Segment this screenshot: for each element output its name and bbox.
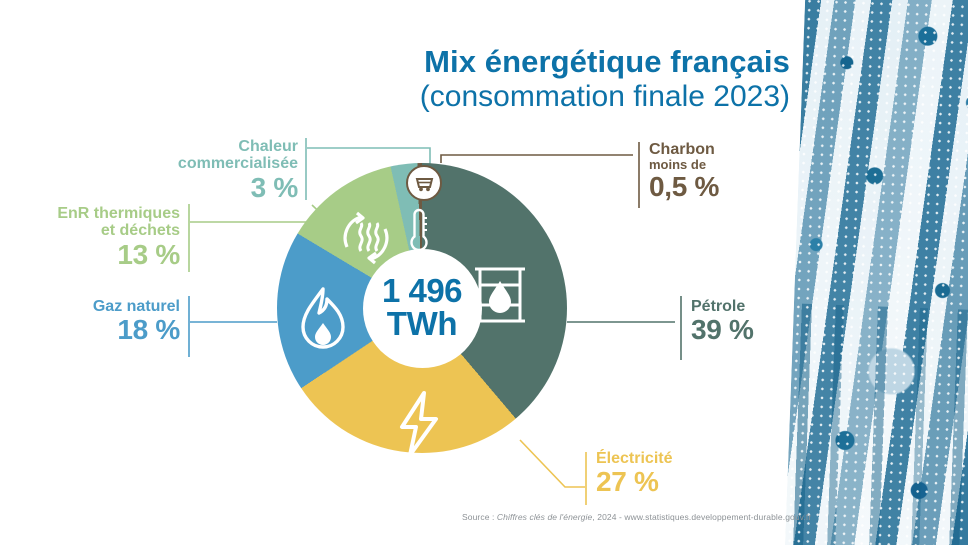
label-petrole-name: Pétrole: [691, 298, 754, 315]
label-enr-line1: EnR thermiques: [0, 205, 180, 222]
label-petrole: Pétrole 39 %: [691, 298, 754, 346]
forest-photo-strip: [784, 0, 968, 545]
source-title: Chiffres clés de l'énergie: [497, 512, 592, 522]
label-charbon-name: Charbon: [649, 141, 719, 158]
coal-cart-icon: [406, 165, 442, 201]
label-electricite-name: Électricité: [596, 450, 672, 467]
infographic-stage: Mix énergétique français (consommation f…: [0, 0, 968, 545]
total-unit: TWh: [387, 307, 458, 342]
total-consumption-hub: 1 496 TWh: [363, 249, 482, 368]
label-enr: EnR thermiques et déchets 13 %: [0, 205, 180, 270]
label-enr-pct: 13 %: [0, 240, 180, 270]
label-chaleur: Chaleur commercialisée 3 %: [110, 138, 298, 203]
label-charbon-sub: moins de: [649, 158, 719, 172]
source-suffix: , 2024 - www.statistiques.developpement-…: [592, 512, 811, 522]
energy-mix-pie-chart: 1 496 TWh: [277, 163, 567, 453]
source-prefix: Source :: [462, 512, 497, 522]
label-gaz: Gaz naturel 18 %: [0, 298, 180, 346]
label-chaleur-pct: 3 %: [110, 173, 298, 203]
label-gaz-name: Gaz naturel: [0, 298, 180, 315]
label-electricite: Électricité 27 %: [596, 450, 672, 498]
label-enr-line2: et déchets: [0, 222, 180, 239]
label-chaleur-line2: commercialisée: [110, 155, 298, 172]
label-charbon-pct: 0,5 %: [649, 172, 719, 202]
halftone-dot-overlay: [784, 0, 968, 545]
page-title: Mix énergétique français (consommation f…: [420, 46, 790, 113]
label-gaz-pct: 18 %: [0, 315, 180, 345]
source-credit: Source : Chiffres clés de l'énergie, 202…: [462, 512, 811, 522]
label-chaleur-line1: Chaleur: [110, 138, 298, 155]
label-electricite-pct: 27 %: [596, 467, 672, 497]
label-petrole-pct: 39 %: [691, 315, 754, 345]
total-value: 1 496: [382, 274, 462, 307]
title-line-1: Mix énergétique français: [420, 46, 790, 79]
title-line-2: (consommation finale 2023): [420, 80, 790, 114]
label-charbon: Charbon moins de 0,5 %: [649, 141, 719, 203]
